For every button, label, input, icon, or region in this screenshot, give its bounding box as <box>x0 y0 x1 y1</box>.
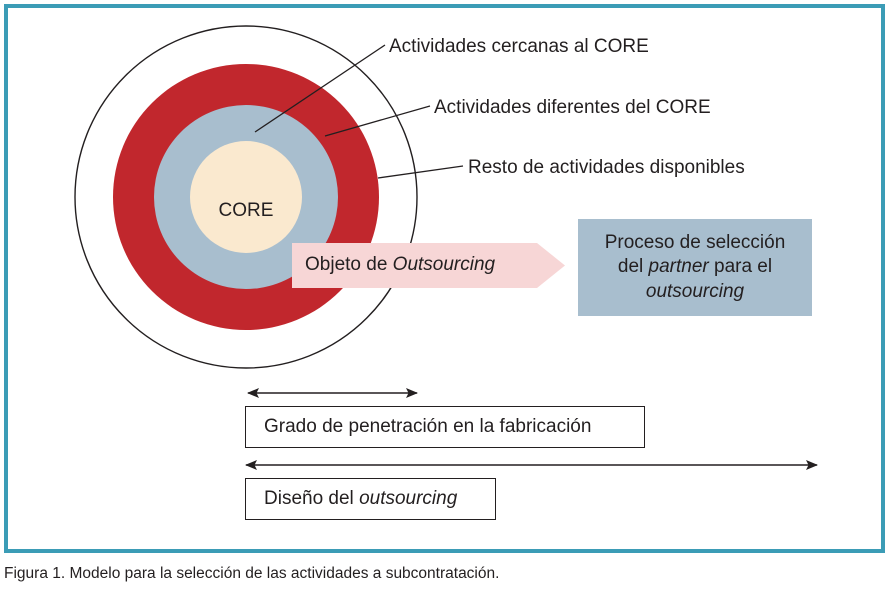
objeto-de-outsourcing-label: Objeto de Outsourcing <box>305 254 495 276</box>
diseno-label-italic: outsourcing <box>359 488 457 509</box>
figure-caption: Figura 1. Modelo para la selección de la… <box>4 565 499 583</box>
callout-label-actividades-cercanas: Actividades cercanas al CORE <box>389 36 649 58</box>
grado-de-penetracion-box: Grado de penetración en la fabricación <box>245 406 645 448</box>
core-label: CORE <box>219 200 274 222</box>
proceso-line1: Proceso de selección <box>605 232 786 253</box>
grado-de-penetracion-label: Grado de penetración en la fabricación <box>264 416 591 438</box>
callout-label-actividades-diferentes: Actividades diferentes del CORE <box>434 97 711 119</box>
proceso-line2-post: para el <box>709 256 772 277</box>
diseno-del-outsourcing-box: Diseño del outsourcing <box>245 478 496 520</box>
diseno-label: Diseño del outsourcing <box>264 488 457 510</box>
proceso-line2-italic: partner <box>649 256 709 277</box>
diseno-label-plain: Diseño del <box>264 488 359 509</box>
proceso-box-text: Proceso de selección del partner para el… <box>605 231 786 304</box>
callout-label-resto-actividades: Resto de actividades disponibles <box>468 157 745 179</box>
proceso-de-seleccion-box: Proceso de selección del partner para el… <box>578 219 812 316</box>
objeto-label-plain: Objeto de <box>305 254 393 275</box>
objeto-label-italic: Outsourcing <box>393 254 495 275</box>
figure-page: Actividades cercanas al CORE Actividades… <box>0 0 889 598</box>
core-circle <box>190 141 302 253</box>
proceso-line3-italic: outsourcing <box>646 281 744 302</box>
proceso-line2-pre: del <box>618 256 649 277</box>
